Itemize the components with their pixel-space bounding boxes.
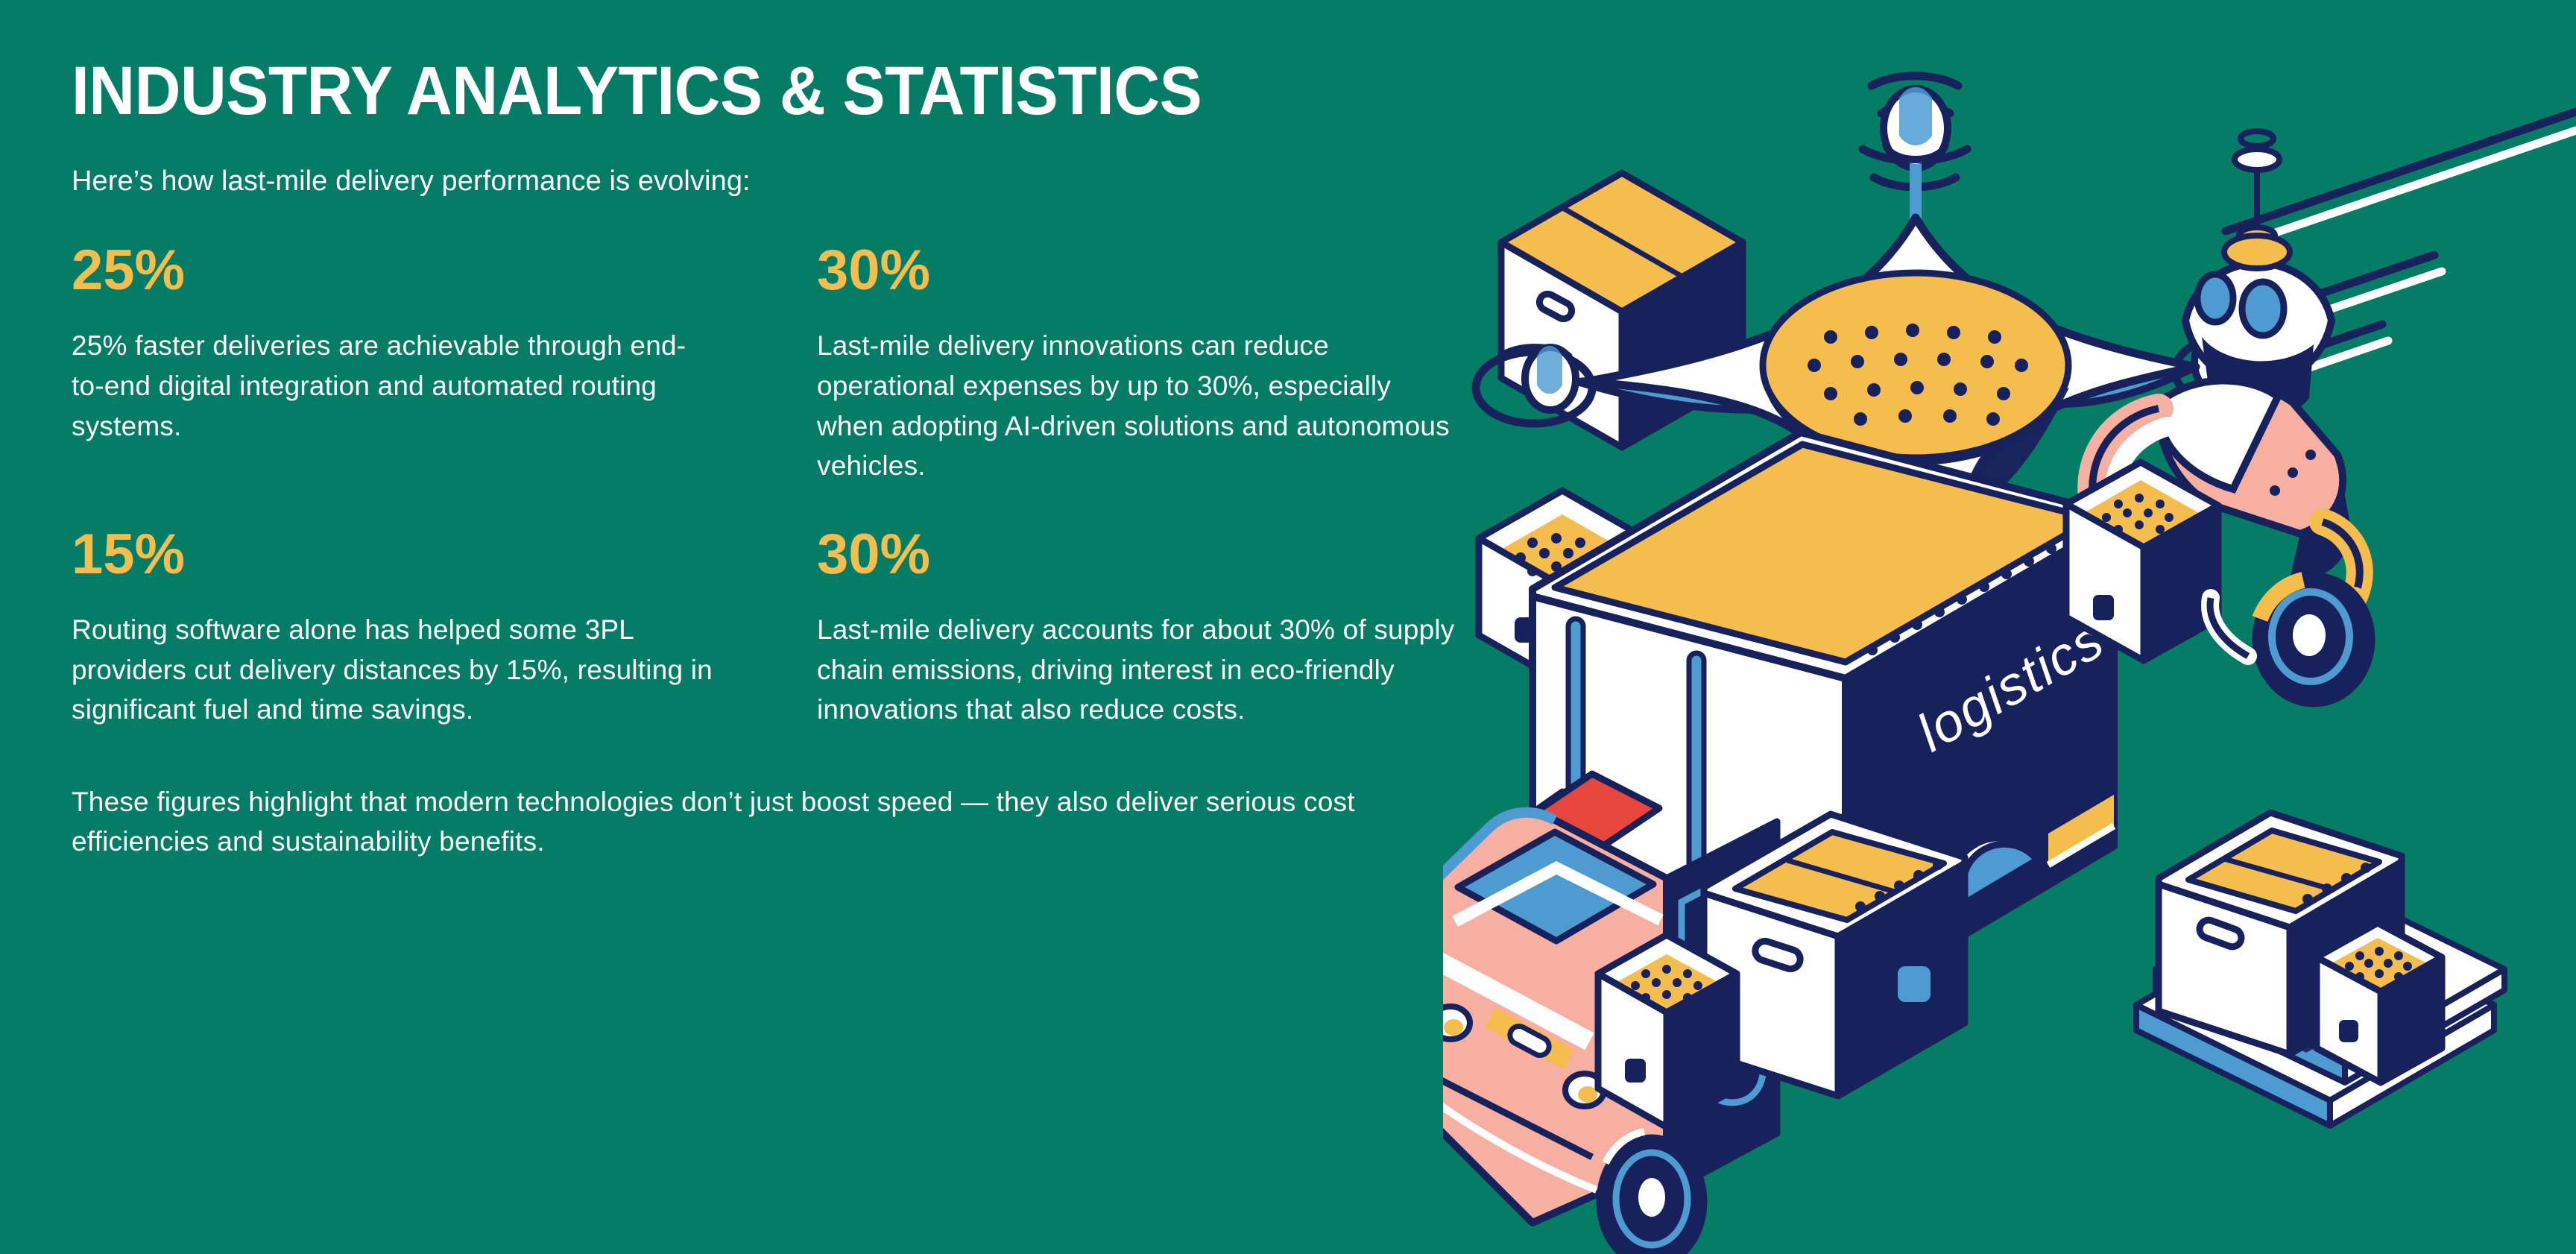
text-content-area: INDUSTRY ANALYTICS & STATISTICS Here’s h… <box>72 57 1458 862</box>
stat-block-3: 15% Routing software alone has helped so… <box>72 526 713 730</box>
small-parcel-box-icon <box>1479 491 1646 683</box>
stat-description-3: Routing software alone has helped some 3… <box>72 610 713 730</box>
drone-cargo-box-icon <box>1501 173 1743 447</box>
logistics-illustration: logistics <box>1443 0 2576 1254</box>
pallet-stack-icon <box>2136 813 2504 1126</box>
stat-block-2: 30% Last-mile delivery innovations can r… <box>817 242 1458 486</box>
stat-value-3: 15% <box>72 526 713 583</box>
delivery-drone-icon <box>1476 76 2291 658</box>
stat-block-4: 30% Last-mile delivery accounts for abou… <box>817 526 1458 730</box>
speed-lines-icon <box>2226 112 2576 389</box>
stat-description-4: Last-mile delivery accounts for about 30… <box>817 610 1458 730</box>
page-title: INDUSTRY ANALYTICS & STATISTICS <box>72 57 1361 125</box>
stat-block-1: 25% 25% faster deliveries are achievable… <box>72 242 713 486</box>
intro-text: Here’s how last-mile delivery performanc… <box>72 163 1458 201</box>
infographic-canvas: INDUSTRY ANALYTICS & STATISTICS Here’s h… <box>0 0 2576 1254</box>
truck-beacon-icon <box>1726 476 1808 532</box>
summary-text: These figures highlight that modern tech… <box>72 782 1413 862</box>
delivery-truck-icon: logistics <box>1443 432 2114 1254</box>
stat-description-2: Last-mile delivery innovations can reduc… <box>817 326 1458 486</box>
statistics-grid: 25% 25% faster deliveries are achievable… <box>72 242 1458 729</box>
stat-value-2: 30% <box>817 242 1458 299</box>
stat-value-1: 25% <box>72 242 713 299</box>
truck-logistics-label: logistics <box>1907 610 2114 763</box>
cardboard-box-icon <box>1598 814 1965 1127</box>
truck-cab-icon <box>1443 774 1777 1254</box>
stat-value-4: 30% <box>817 526 1458 583</box>
stat-description-1: 25% faster deliveries are achievable thr… <box>72 326 713 446</box>
courier-robot-icon <box>2066 131 2372 704</box>
